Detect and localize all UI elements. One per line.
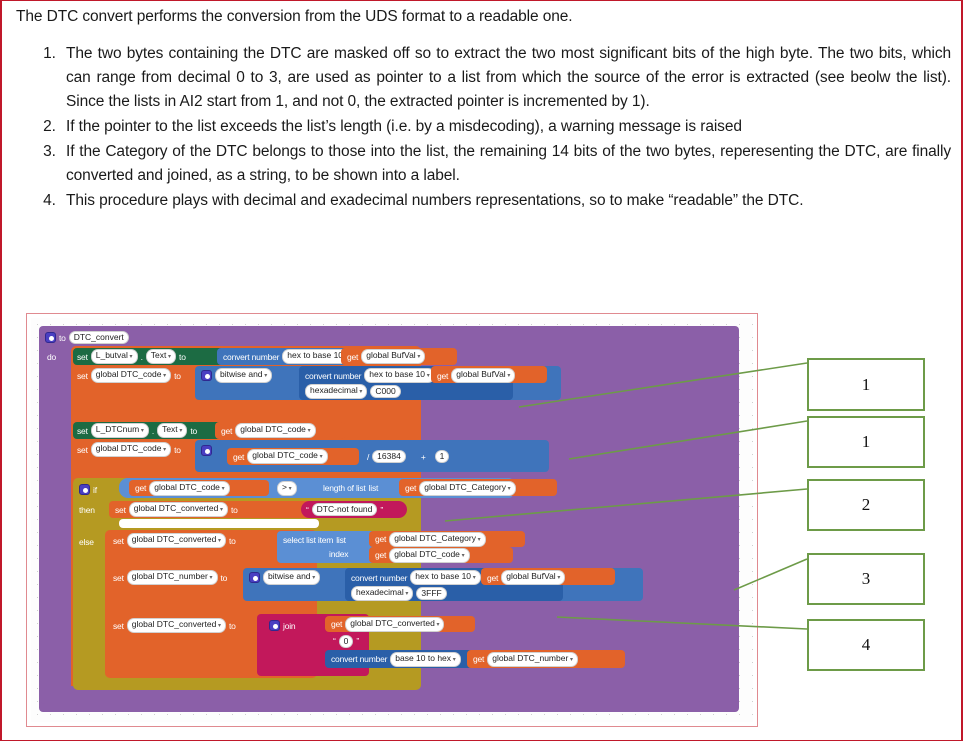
if-get2[interactable]: get global DTC_Category	[405, 481, 516, 495]
then-variable-dropdown[interactable]: global DTC_converted	[129, 502, 228, 517]
if-label: if	[93, 485, 97, 495]
else-join[interactable]: join	[269, 618, 295, 633]
else-join-get-label: get	[331, 619, 342, 629]
else-get-code[interactable]: get global DTC_code	[375, 548, 470, 562]
else-join-get2[interactable]: get global DTC_number	[473, 652, 578, 666]
else-row2-variable-dropdown[interactable]: global DTC_number	[127, 570, 218, 585]
row4-get-variable-dropdown[interactable]: global DTC_code	[247, 449, 327, 464]
row3-to-label: to	[190, 426, 197, 436]
else-join-quote-close: ”	[356, 636, 359, 646]
row3-component-dropdown[interactable]: L_DTCnum	[91, 423, 149, 438]
then-set-label: set	[115, 505, 126, 515]
else-convert-mode-dropdown[interactable]: hex to base 10	[410, 570, 480, 585]
then-label: then	[79, 505, 95, 515]
row2-get[interactable]: get global BufVal	[437, 368, 515, 383]
row4-mutator-gear-icon[interactable]	[201, 445, 212, 456]
else-get-code-dropdown[interactable]: global DTC_code	[389, 548, 469, 563]
else-mutator-gear-icon[interactable]	[249, 572, 260, 583]
row4-get[interactable]: get global DTC_code	[233, 449, 328, 464]
row2-operator-dropdown[interactable]: bitwise and	[215, 368, 272, 383]
row2-set-label: set	[77, 371, 88, 381]
row4[interactable]: set global DTC_code to	[77, 442, 181, 457]
else-join-get-dropdown[interactable]: global DTC_converted	[345, 617, 444, 632]
row1-property-dropdown[interactable]: Text	[146, 349, 176, 364]
row1[interactable]: set L_butval . Text to	[77, 349, 186, 364]
else-row2-set[interactable]: set global DTC_number to	[113, 570, 227, 585]
if-get2-variable-dropdown[interactable]: global DTC_Category	[419, 481, 515, 496]
callout-box-2: 1	[807, 416, 925, 468]
then-quote-close: ”	[380, 505, 383, 515]
else-convert-number[interactable]: convert number hex to base 10	[351, 570, 481, 585]
else-row3-set-label: set	[113, 621, 124, 631]
else-join-convert-mode-dropdown[interactable]: base 10 to hex	[390, 652, 460, 667]
row2-to-label: to	[174, 371, 181, 381]
else-join-get2-label: get	[473, 654, 484, 664]
row2-get-variable-dropdown[interactable]: global BufVal	[451, 368, 515, 383]
else-select-list-item-label: select list item	[283, 535, 333, 545]
row2-convert[interactable]: convert number hex to base 10	[305, 368, 435, 383]
row1-get[interactable]: get global BufVal	[347, 349, 425, 364]
else-select-list-item[interactable]: select list item list	[283, 533, 346, 547]
else-radix[interactable]: hexadecimal 3FFF	[351, 586, 447, 601]
row4-addend-field[interactable]: 1	[435, 450, 450, 463]
row2-radix-dropdown[interactable]: hexadecimal	[305, 384, 367, 399]
else-get-bufval-dropdown[interactable]: global BufVal	[501, 570, 565, 585]
if-block-bottom	[73, 678, 273, 690]
row4-mutator[interactable]	[201, 443, 212, 458]
if-header[interactable]: if	[79, 482, 97, 497]
blocks-canvas[interactable]: to DTC_convert do set L_butval . Text to…	[31, 318, 753, 722]
else-get-code-label: get	[375, 550, 386, 560]
callout-box-4: 3	[807, 553, 925, 605]
row2-convert-number-label: convert number	[305, 371, 361, 381]
then-quote-open: “	[306, 505, 309, 515]
row1-set-label: set	[77, 352, 88, 362]
row1-to-label: to	[179, 352, 186, 362]
row4-divisor-field[interactable]: 16384	[372, 450, 406, 463]
if-compare[interactable]: >	[277, 481, 297, 495]
row3-get-label: get	[221, 426, 232, 436]
else-join-mutator-gear-icon[interactable]	[269, 620, 280, 631]
else-get-bufval[interactable]: get global BufVal	[487, 570, 565, 585]
else-row2-set-label: set	[113, 573, 124, 583]
document-body: The DTC convert performs the conversion …	[16, 7, 951, 214]
else-join-quote-open: “	[333, 636, 336, 646]
else-join-text[interactable]: “ 0 ”	[333, 634, 359, 648]
else-row1-variable-dropdown[interactable]: global DTC_converted	[127, 533, 226, 548]
row3-dot: .	[152, 426, 154, 436]
if-list-socket-label: list	[369, 483, 379, 493]
else-join-convert[interactable]: convert number base 10 to hex	[331, 652, 461, 666]
else-row3-set[interactable]: set global DTC_converted to	[113, 618, 236, 633]
then-set[interactable]: set global DTC_converted to	[115, 502, 238, 517]
else-row3-to-label: to	[229, 621, 236, 631]
else-join-label: join	[283, 621, 295, 631]
then-slot-filler	[119, 519, 319, 528]
row2-radix[interactable]: hexadecimal C000	[305, 384, 401, 399]
else-get-category[interactable]: get global DTC_Category	[375, 532, 486, 546]
else-join-get2-dropdown[interactable]: global DTC_number	[487, 652, 578, 667]
mutator-gear-icon[interactable]	[45, 332, 56, 343]
else-join-text-field[interactable]: 0	[339, 635, 354, 648]
else-convert-number-label: convert number	[351, 573, 407, 583]
row2-mode-dropdown[interactable]: hex to base 10	[364, 368, 434, 383]
else-get-bufval-label: get	[487, 573, 498, 583]
else-get-category-label: get	[375, 534, 386, 544]
row2-mask-field[interactable]: C000	[370, 385, 400, 398]
else-index-label: index	[329, 549, 348, 559]
if-mutator-gear-icon[interactable]	[79, 484, 90, 495]
row2-mutator-gear-icon[interactable]	[201, 370, 212, 381]
row1-convert[interactable]: convert number hex to base 10	[223, 349, 353, 364]
if-length-of-list-label: length of list	[323, 483, 366, 493]
page-frame: The DTC convert performs the conversion …	[0, 0, 963, 741]
row3-property-dropdown[interactable]: Text	[157, 423, 187, 438]
if-get-label: get	[135, 483, 146, 493]
row4-to-label: to	[174, 445, 181, 455]
numbered-steps-list: The two bytes containing the DTC are mas…	[16, 42, 951, 213]
row2-variable-dropdown[interactable]: global DTC_code	[91, 368, 171, 383]
else-row1-set-label: set	[113, 536, 124, 546]
else-join-convert-label: convert number	[331, 654, 387, 664]
procedure-name-field[interactable]: DTC_convert	[69, 331, 129, 344]
then-text-field[interactable]: DTC-not found	[312, 503, 378, 516]
row2-get-label: get	[437, 371, 448, 381]
row4-divide-operator: /	[367, 452, 369, 462]
if-get[interactable]: get global DTC_code	[135, 481, 230, 495]
procedure-to-label: to	[59, 333, 66, 343]
row1-component-dropdown[interactable]: L_butval	[91, 349, 138, 364]
else-mask-field[interactable]: 3FFF	[416, 587, 446, 600]
row3[interactable]: set L_DTCnum . Text to	[77, 423, 197, 438]
callout-label-5: 4	[862, 635, 871, 655]
procedure-header[interactable]: to DTC_convert	[45, 330, 129, 345]
else-radix-dropdown[interactable]: hexadecimal	[351, 586, 413, 601]
row3-get[interactable]: get global DTC_code	[221, 423, 316, 438]
row1-dot: .	[141, 352, 143, 362]
lead-paragraph: The DTC convert performs the conversion …	[16, 7, 951, 28]
procedure-block-bottom	[39, 690, 259, 704]
callout-label-4: 3	[862, 569, 871, 589]
callout-box-3: 2	[807, 479, 925, 531]
else-join-get[interactable]: get global DTC_converted	[331, 617, 444, 631]
row2[interactable]: set global DTC_code to	[77, 368, 181, 383]
then-text[interactable]: “ DTC-not found ”	[306, 502, 383, 517]
else-row3-variable-dropdown[interactable]: global DTC_converted	[127, 618, 226, 633]
row4-variable-dropdown[interactable]: global DTC_code	[91, 442, 171, 457]
step-item-3: If the Category of the DTC belongs to th…	[60, 140, 951, 188]
row1-get-label: get	[347, 352, 358, 362]
row3-get-variable-dropdown[interactable]: global DTC_code	[235, 423, 315, 438]
else-bitwise-operator-dropdown[interactable]: bitwise and	[263, 570, 320, 585]
row4-set-label: set	[77, 445, 88, 455]
step-item-2: If the pointer to the list exceeds the l…	[60, 115, 951, 139]
blocks-figure: to DTC_convert do set L_butval . Text to…	[26, 313, 758, 727]
procedure-do-label: do	[47, 352, 56, 362]
callout-label-1: 1	[862, 375, 871, 395]
else-row1-set[interactable]: set global DTC_converted to	[113, 533, 236, 548]
callout-box-5: 4	[807, 619, 925, 671]
else-row2-to-label: to	[221, 573, 228, 583]
then-to-label: to	[231, 505, 238, 515]
else-get-category-dropdown[interactable]: global DTC_Category	[389, 532, 485, 547]
callout-label-2: 1	[862, 432, 871, 452]
if-get2-label: get	[405, 483, 416, 493]
else-bitwise[interactable]: bitwise and	[249, 570, 320, 585]
row4-plus-operator: +	[421, 452, 426, 462]
row3-set-label: set	[77, 426, 88, 436]
else-list-socket-label: list	[336, 535, 346, 545]
else-label: else	[79, 537, 94, 547]
callout-box-1: 1	[807, 358, 925, 411]
if-compare-operator-dropdown[interactable]: >	[277, 481, 297, 496]
if-get-variable-dropdown[interactable]: global DTC_code	[149, 481, 229, 496]
row1-convert-number-label: convert number	[223, 352, 279, 362]
step-item-4: This procedure plays with decimal and ex…	[60, 189, 951, 213]
if-length-of-list[interactable]: length of list list	[323, 481, 378, 495]
row4-get-label: get	[233, 452, 244, 462]
step-item-1: The two bytes containing the DTC are mas…	[60, 42, 951, 114]
row2-bitwise[interactable]: bitwise and	[201, 368, 272, 383]
else-row1-to-label: to	[229, 536, 236, 546]
row4-division[interactable]: / 16384 + 1	[367, 449, 449, 464]
row1-get-variable-dropdown[interactable]: global BufVal	[361, 349, 425, 364]
callout-label-3: 2	[862, 495, 871, 515]
